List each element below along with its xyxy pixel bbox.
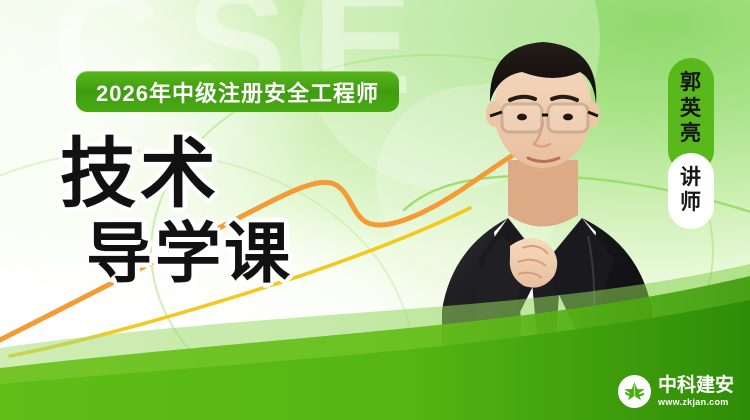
instructor-role: 讲 师 [668,153,714,229]
headline-line-1: 技术 [60,136,293,214]
brand-url: www.zkjan.com [658,398,734,407]
instructor-role-char-2: 师 [680,190,702,216]
instructor-badge: 郭 英 亮 讲 师 [668,58,714,229]
instructor-name-char-1: 郭 [680,70,702,96]
brand-name: 中科建安 [658,376,734,395]
page-title: 技术 导学课 [60,136,293,287]
brand-logo: 中科建安 www.zkjan.com [618,375,734,408]
exam-title-badge: 2026年中级注册安全工程师 [76,71,399,112]
instructor-name-char-2: 英 [680,96,702,122]
headline-line-2: 导学课 [86,220,293,287]
brand-text: 中科建安 www.zkjan.com [658,376,734,407]
zkjan-circle-logo-icon [618,375,651,408]
course-poster: CSE [0,0,750,420]
instructor-role-char-1: 讲 [680,165,702,191]
logo-glyph-icon [621,378,648,405]
instructor-name-char-3: 亮 [680,121,702,147]
